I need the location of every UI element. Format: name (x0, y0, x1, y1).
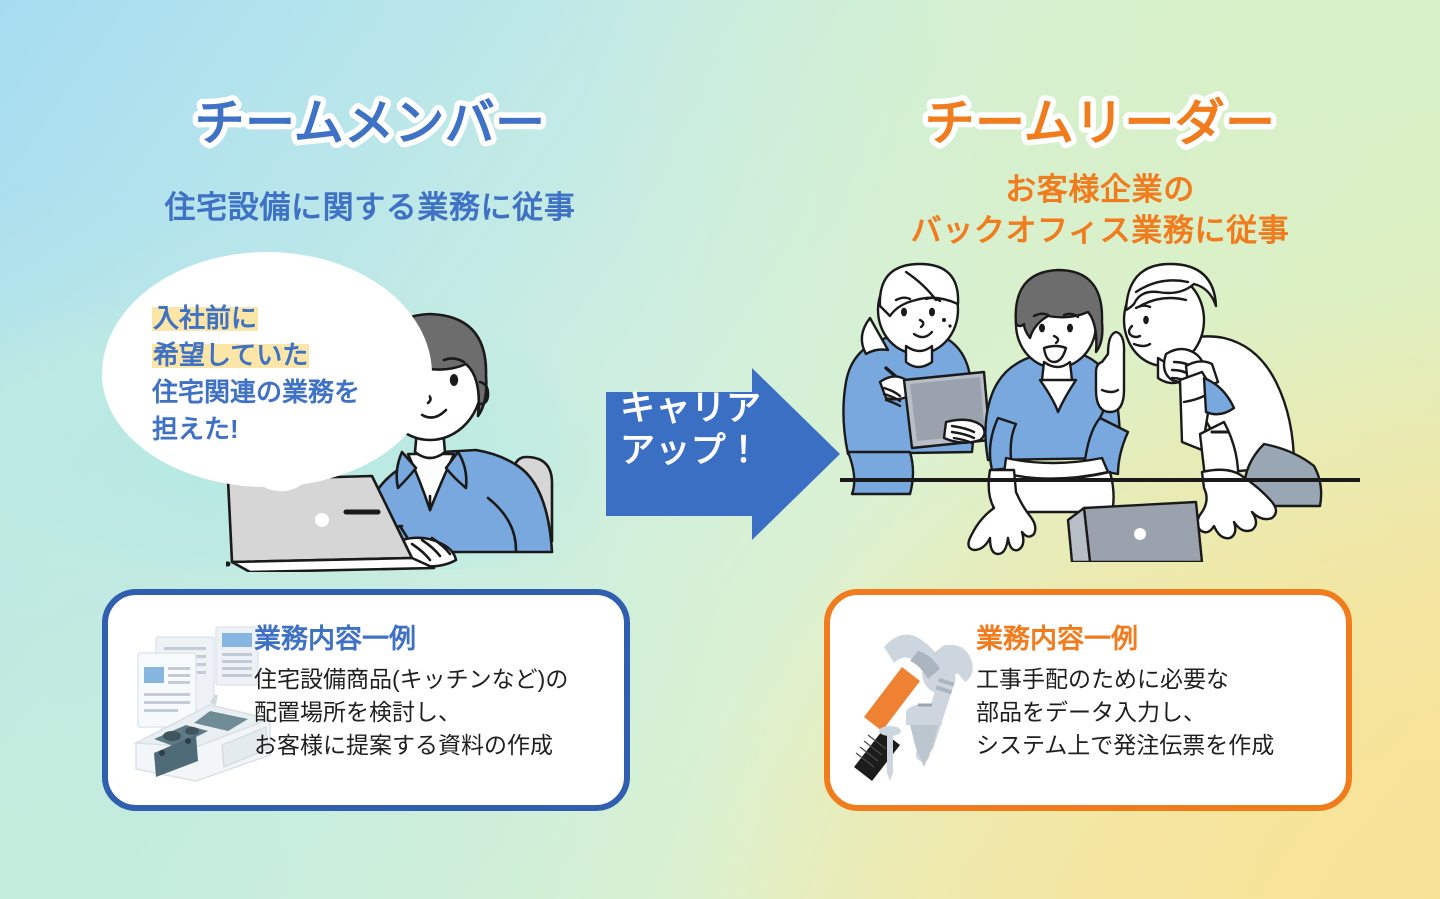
infographic-canvas: チームメンバー 住宅設備に関する業務に従事 チームリーダー お客様企業の バック… (0, 0, 1440, 899)
right-kicker-text: チームリーダー (925, 95, 1276, 151)
right-card-line-2: 部品をデータ入力し、 (976, 696, 1328, 729)
arrow-label: キャリア アップ！ (620, 388, 780, 472)
right-card-line-1: 工事手配のために必要な (976, 663, 1328, 696)
left-kicker-text: チームメンバー (195, 95, 546, 151)
left-card-title: 業務内容一例 (254, 625, 606, 655)
three-colleagues-meeting-illustration (840, 262, 1360, 562)
right-task-card: 業務内容一例 工事手配のために必要な 部品をデータ入力し、 システム上で発注伝票… (824, 589, 1352, 811)
left-kicker: チームメンバー (60, 88, 680, 163)
left-card-line-3: お客様に提案する資料の作成 (254, 729, 606, 762)
bubble-line-4: 担えた! (152, 411, 452, 448)
right-subtitle-line2: バックオフィス業務に従事 (830, 211, 1370, 252)
right-card-line-3: システム上で発注伝票を作成 (976, 729, 1328, 762)
arrow-line-1: キャリア (620, 388, 780, 430)
left-card-line-2: 配置場所を検討し、 (254, 696, 606, 729)
speech-bubble-text: 入社前に 希望していた 住宅関連の業務を 担えた! (152, 300, 452, 448)
left-subtitle: 住宅設備に関する業務に従事 (60, 188, 680, 229)
left-kicker-svg: チームメンバー (60, 88, 680, 158)
bubble-line-3: 住宅関連の業務を (152, 374, 452, 411)
bubble-line-2: 希望していた (152, 337, 452, 374)
left-card-body: 業務内容一例 住宅設備商品(キッチンなど)の 配置場所を検討し、 お客様に提案す… (254, 625, 606, 763)
arrow-line-2: アップ！ (620, 430, 780, 472)
right-card-title: 業務内容一例 (976, 625, 1328, 655)
right-subtitle-line1: お客様企業の (830, 170, 1370, 211)
hammer-wrench-tools-icon (846, 623, 996, 783)
bubble-line-1: 入社前に (152, 300, 452, 337)
right-card-body: 業務内容一例 工事手配のために必要な 部品をデータ入力し、 システム上で発注伝票… (976, 625, 1328, 763)
right-kicker: チームリーダー (830, 88, 1370, 163)
left-task-card: 業務内容一例 住宅設備商品(キッチンなど)の 配置場所を検討し、 お客様に提案す… (102, 589, 630, 811)
right-kicker-svg: チームリーダー (830, 88, 1370, 158)
right-subtitle: お客様企業の バックオフィス業務に従事 (830, 170, 1370, 252)
kitchen-documents-icon (124, 623, 274, 783)
left-card-line-1: 住宅設備商品(キッチンなど)の (254, 663, 606, 696)
